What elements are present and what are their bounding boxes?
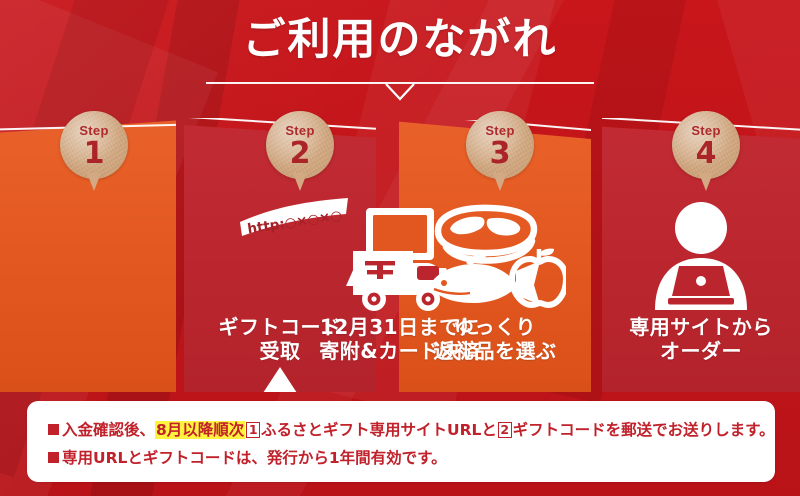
step-4-caption: 専用サイトから オーダー bbox=[602, 315, 800, 364]
url-ribbon: http:○×○×○ bbox=[238, 196, 350, 240]
person-with-laptop-icon bbox=[646, 200, 756, 310]
title-block: ご利用のながれ bbox=[0, 18, 800, 63]
filled-square-bullet bbox=[48, 452, 59, 463]
step-badge-4: Step 4 bbox=[672, 111, 740, 179]
meat-fish-apple-icon bbox=[424, 203, 566, 311]
panel-bottom-notch bbox=[263, 367, 297, 392]
badge-tail bbox=[699, 173, 713, 191]
note-line-1-boxed-number-2: 2 bbox=[498, 422, 512, 438]
chevron-down-icon bbox=[385, 83, 415, 101]
note-box: 入金確認後、8月以降順次1ふるさとギフト専用サイトURLと2ギフトコードを郵送で… bbox=[27, 401, 775, 482]
note-line-1: 入金確認後、8月以降順次1ふるさとギフト専用サイトURLと2ギフトコードを郵送で… bbox=[48, 418, 775, 440]
step-2-caption-line-2: 受取 bbox=[184, 339, 376, 363]
step-2-caption-line-1: ギフトコード bbox=[184, 315, 376, 339]
badge-tail bbox=[87, 173, 101, 191]
badge-tail bbox=[293, 173, 307, 191]
step-3-caption-line-2: 返礼品を選ぶ bbox=[399, 339, 591, 363]
note-line-1-part-2: ふるさとギフト専用サイトURLと bbox=[261, 421, 497, 439]
step-badge-3: Step 3 bbox=[466, 111, 534, 179]
step-3-icon-area bbox=[399, 203, 591, 316]
note-line-2: 専用URLとギフトコードは、発行から1年間有効です。 bbox=[48, 446, 447, 468]
step-4-caption-line-1: 専用サイトから bbox=[602, 315, 800, 339]
note-line-2-text: 専用URLとギフトコードは、発行から1年間有効です。 bbox=[62, 449, 447, 467]
step-3-caption: ゆっくり 返礼品を選ぶ bbox=[399, 315, 591, 364]
note-line-1-highlight: 8月以降順次 bbox=[155, 421, 245, 439]
badge-step-number: 3 bbox=[466, 139, 534, 169]
note-line-1-part-1: 入金確認後、 bbox=[62, 421, 155, 439]
step-badge-1: Step 1 bbox=[60, 111, 128, 179]
step-3-caption-line-1: ゆっくり bbox=[399, 315, 591, 339]
step-2-caption: ギフトコード 受取 bbox=[184, 315, 376, 364]
note-line-1-boxed-number-1: 1 bbox=[246, 422, 260, 438]
badge-step-number: 4 bbox=[672, 139, 740, 169]
filled-square-bullet bbox=[48, 424, 59, 435]
promo-banner: ご利用のながれ Step 1 12月31日までに 寄附&カード決済 Step 2 bbox=[0, 0, 800, 496]
note-line-1-part-3: ギフトコードを郵送でお送りします。 bbox=[513, 421, 775, 439]
badge-step-number: 2 bbox=[266, 139, 334, 169]
step-4-caption-line-2: オーダー bbox=[602, 339, 800, 363]
step-badge-2: Step 2 bbox=[266, 111, 334, 179]
badge-tail bbox=[493, 173, 507, 191]
page-title: ご利用のながれ bbox=[0, 18, 800, 63]
step-4-icon-area bbox=[602, 200, 800, 315]
badge-step-number: 1 bbox=[60, 139, 128, 169]
